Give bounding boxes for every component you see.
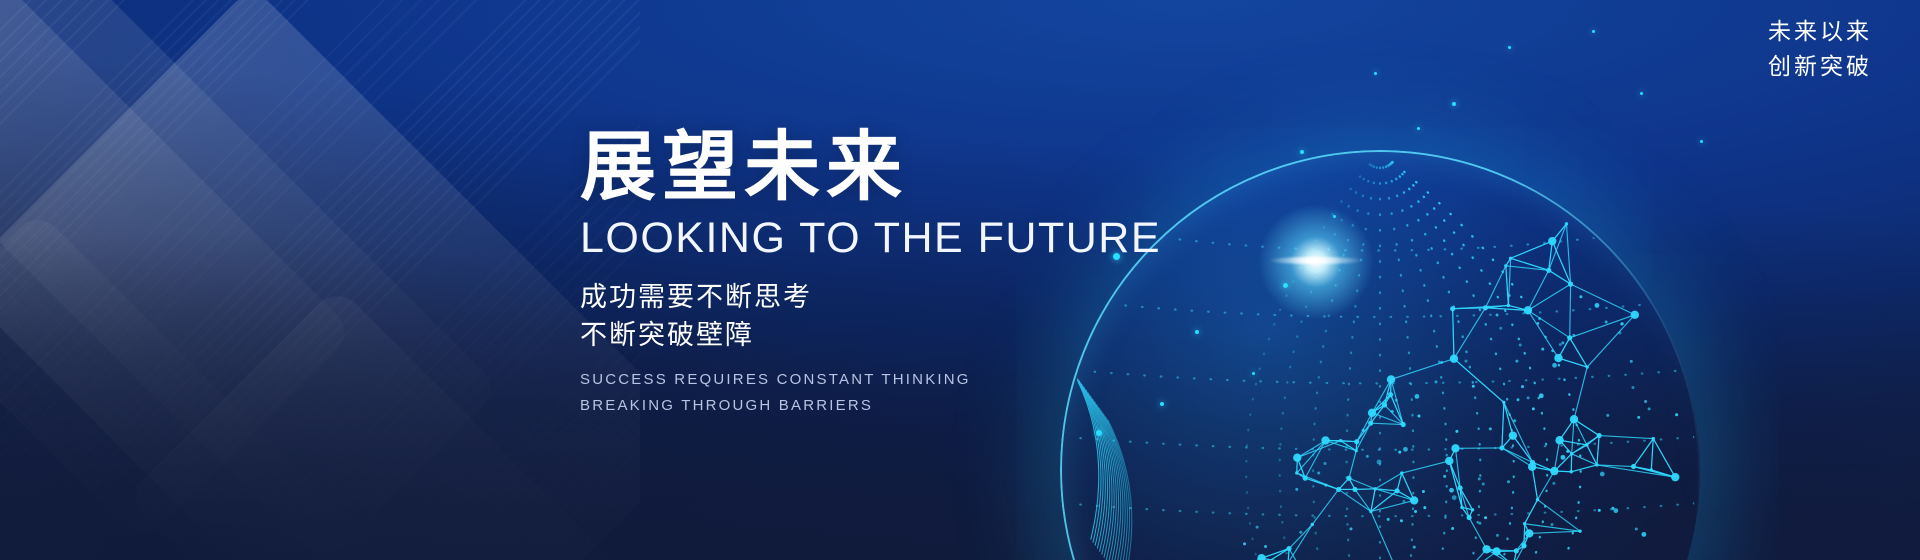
headline-block: 展望未来 LOOKING TO THE FUTURE 成功需要不断思考 不断突破… — [580, 128, 1200, 419]
corner-tagline-line-1: 未来以来 — [1768, 14, 1872, 49]
hero-banner: 展望未来 LOOKING TO THE FUTURE 成功需要不断思考 不断突破… — [0, 0, 1920, 560]
corner-tagline-line-2: 创新突破 — [1768, 49, 1872, 84]
cyan-dot — [1640, 92, 1643, 95]
cyan-dot — [1592, 30, 1595, 33]
corner-tagline: 未来以来 创新突破 — [1768, 14, 1872, 83]
left-geometric-artwork — [0, 0, 640, 560]
subtitle-english: SUCCESS REQUIRES CONSTANT THINKING BREAK… — [580, 367, 1200, 420]
cyan-dot — [1700, 140, 1703, 143]
cyan-dot — [1283, 283, 1288, 288]
globe-light-flare — [1256, 202, 1376, 322]
cyan-dot — [1333, 215, 1336, 218]
cyan-dot — [1300, 150, 1304, 154]
subtitle-chinese-line-1: 成功需要不断思考 — [580, 278, 1200, 316]
cyan-dot — [1096, 430, 1102, 436]
cyan-dot — [1508, 46, 1511, 49]
subtitle-english-line-1: SUCCESS REQUIRES CONSTANT THINKING — [580, 367, 1200, 393]
cyan-dot — [1452, 102, 1456, 106]
subtitle-chinese: 成功需要不断思考 不断突破壁障 — [580, 278, 1200, 355]
page-title-english: LOOKING TO THE FUTURE — [580, 215, 1200, 262]
subtitle-english-line-2: BREAKING THROUGH BARRIERS — [580, 393, 1200, 419]
cyan-dot — [1417, 127, 1420, 130]
cyan-dot — [1252, 372, 1255, 375]
cyan-dot — [1374, 72, 1377, 75]
subtitle-chinese-line-2: 不断突破壁障 — [580, 316, 1200, 354]
page-title: 展望未来 — [580, 128, 1200, 209]
